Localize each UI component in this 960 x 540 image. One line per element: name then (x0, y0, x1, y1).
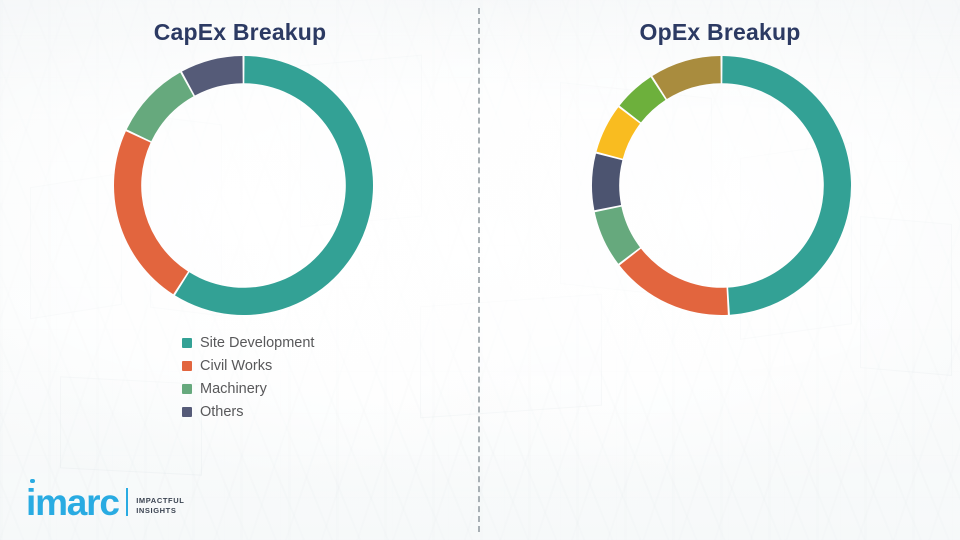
logo-tagline: IMPACTFUL INSIGHTS (136, 497, 184, 518)
logo-tagline-line-1: IMPACTFUL (136, 497, 184, 505)
capex-donut-chart (113, 55, 374, 316)
logo-dot-icon (30, 479, 35, 484)
opex-slice-3[interactable] (592, 154, 622, 211)
legend-swatch-icon (182, 384, 192, 394)
logo-wordmark: imarc (26, 488, 119, 518)
logo-text: imarc (26, 482, 119, 523)
opex-donut-chart (591, 55, 852, 316)
capex-donut-svg (113, 55, 374, 316)
legend-swatch-icon (182, 338, 192, 348)
imarc-logo: imarc IMPACTFUL INSIGHTS (26, 488, 184, 518)
opex-title: OpEx Breakup (480, 19, 960, 46)
legend-item[interactable]: Others (182, 405, 314, 420)
capex-legend: Site DevelopmentCivil WorksMachineryOthe… (182, 336, 314, 420)
opex-slice-0[interactable] (722, 56, 851, 315)
legend-item-label: Civil Works (200, 359, 272, 374)
opex-panel: OpEx Breakup Raw MaterialsSalaries and W… (480, 0, 960, 540)
logo-tagline-line-2: INSIGHTS (136, 507, 184, 515)
legend-item-label: Machinery (200, 382, 267, 397)
capex-panel: CapEx Breakup Site DevelopmentCivil Work… (0, 0, 480, 540)
capex-slice-2[interactable] (127, 73, 194, 142)
legend-item-label: Site Development (200, 336, 314, 351)
opex-donut-svg (591, 55, 852, 316)
legend-swatch-icon (182, 361, 192, 371)
opex-slice-6[interactable] (652, 56, 720, 99)
legend-item[interactable]: Machinery (182, 382, 314, 397)
legend-item-label: Others (200, 405, 244, 420)
logo-separator-bar (126, 488, 129, 516)
capex-slice-0[interactable] (175, 56, 373, 315)
opex-slice-1[interactable] (620, 249, 728, 315)
capex-slice-1[interactable] (114, 131, 188, 294)
capex-slice-3[interactable] (182, 56, 243, 95)
legend-swatch-icon (182, 407, 192, 417)
slide-canvas: CapEx Breakup Site DevelopmentCivil Work… (0, 0, 960, 540)
capex-title: CapEx Breakup (0, 19, 480, 46)
legend-item[interactable]: Civil Works (182, 359, 314, 374)
legend-item[interactable]: Site Development (182, 336, 314, 351)
